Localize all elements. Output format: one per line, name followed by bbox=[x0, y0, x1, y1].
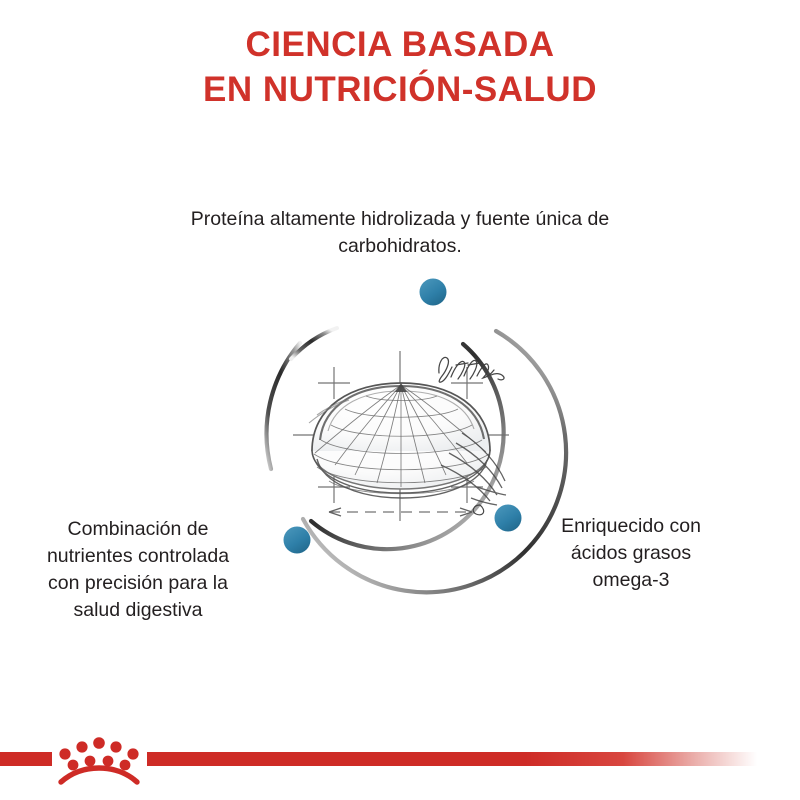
page-title: CIENCIA BASADA EN NUTRICIÓN-SALUD bbox=[0, 22, 800, 112]
callout-nutrient-combination: Combinación de nutrientes controlada con… bbox=[38, 516, 238, 624]
marker-dot-top[interactable] bbox=[420, 279, 447, 306]
royal-canin-crown-logo bbox=[56, 734, 142, 786]
kibble-dome bbox=[309, 383, 506, 515]
kibble-sketch bbox=[293, 351, 509, 521]
marker-dot-bottom-left[interactable] bbox=[284, 527, 311, 554]
footer-brand-bar bbox=[0, 720, 800, 800]
handwritten-annotation bbox=[439, 357, 504, 382]
poster-canvas: CIENCIA BASADA EN NUTRICIÓN-SALUD Proteí… bbox=[0, 0, 800, 800]
brand-bar-left bbox=[0, 752, 52, 766]
marker-dot-right[interactable] bbox=[495, 505, 522, 532]
callout-protein-source: Proteína altamente hidrolizada y fuente … bbox=[180, 206, 620, 260]
page-title-line-1: CIENCIA BASADA bbox=[0, 22, 800, 67]
page-title-line-2: EN NUTRICIÓN-SALUD bbox=[0, 67, 800, 112]
brand-bar-right bbox=[147, 752, 757, 766]
kibble-science-diagram bbox=[225, 255, 575, 605]
